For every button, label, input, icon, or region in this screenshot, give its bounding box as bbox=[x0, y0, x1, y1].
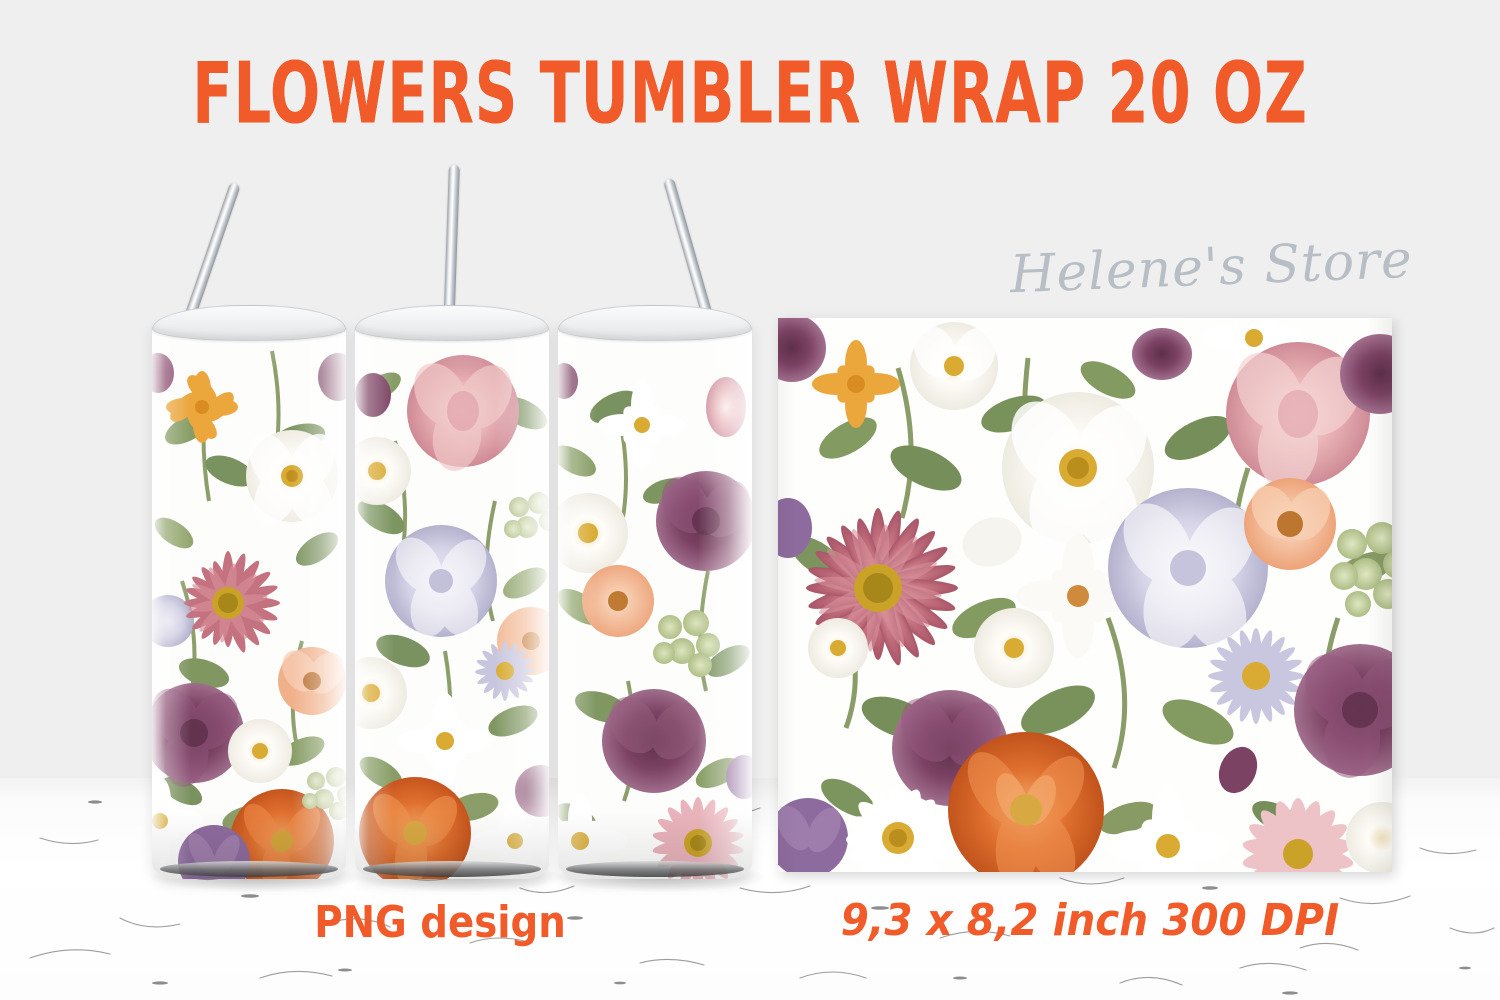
floral-artwork bbox=[152, 321, 346, 879]
tumbler-base bbox=[363, 861, 542, 877]
tumbler-3-wrap bbox=[558, 321, 752, 879]
floral-artwork bbox=[558, 321, 752, 879]
flower-white-peony-left bbox=[808, 618, 868, 678]
floral-artwork bbox=[355, 321, 549, 879]
tumbler-1[interactable] bbox=[152, 305, 346, 880]
tumbler-3[interactable] bbox=[558, 305, 752, 880]
tumbler-lid bbox=[355, 305, 549, 341]
tumbler-2[interactable] bbox=[355, 305, 549, 880]
flower-plum-bud bbox=[355, 373, 391, 417]
tumbler-lid bbox=[558, 305, 752, 341]
tumbler-1-wrap bbox=[152, 321, 346, 879]
page-title: FLOWERS TUMBLER WRAP 20 OZ bbox=[150, 52, 1350, 136]
caption-file-format: PNG design bbox=[264, 898, 616, 948]
flower-peach-anemone bbox=[582, 565, 654, 637]
flat-wrap-panel[interactable] bbox=[778, 318, 1392, 872]
mockup-canvas: FLOWERS TUMBLER WRAP 20 OZ Helene's Stor… bbox=[0, 0, 1500, 1000]
store-watermark: Helene's Store bbox=[1009, 221, 1392, 316]
tumbler-base bbox=[566, 861, 745, 877]
flower-white-peony-2 bbox=[228, 719, 292, 783]
flower-pink-tulip-bud bbox=[706, 377, 746, 437]
caption-dimensions-dpi: 9,3 x 8,2 inch 300 DPI bbox=[841, 895, 1319, 947]
flower-white-peony-mid bbox=[974, 608, 1054, 688]
tumbler-lid bbox=[152, 305, 346, 341]
floral-artwork-flat bbox=[778, 318, 1392, 872]
flower-plum-bud bbox=[1132, 328, 1192, 380]
tumbler-2-wrap bbox=[355, 321, 549, 879]
tumbler-base bbox=[160, 861, 339, 877]
